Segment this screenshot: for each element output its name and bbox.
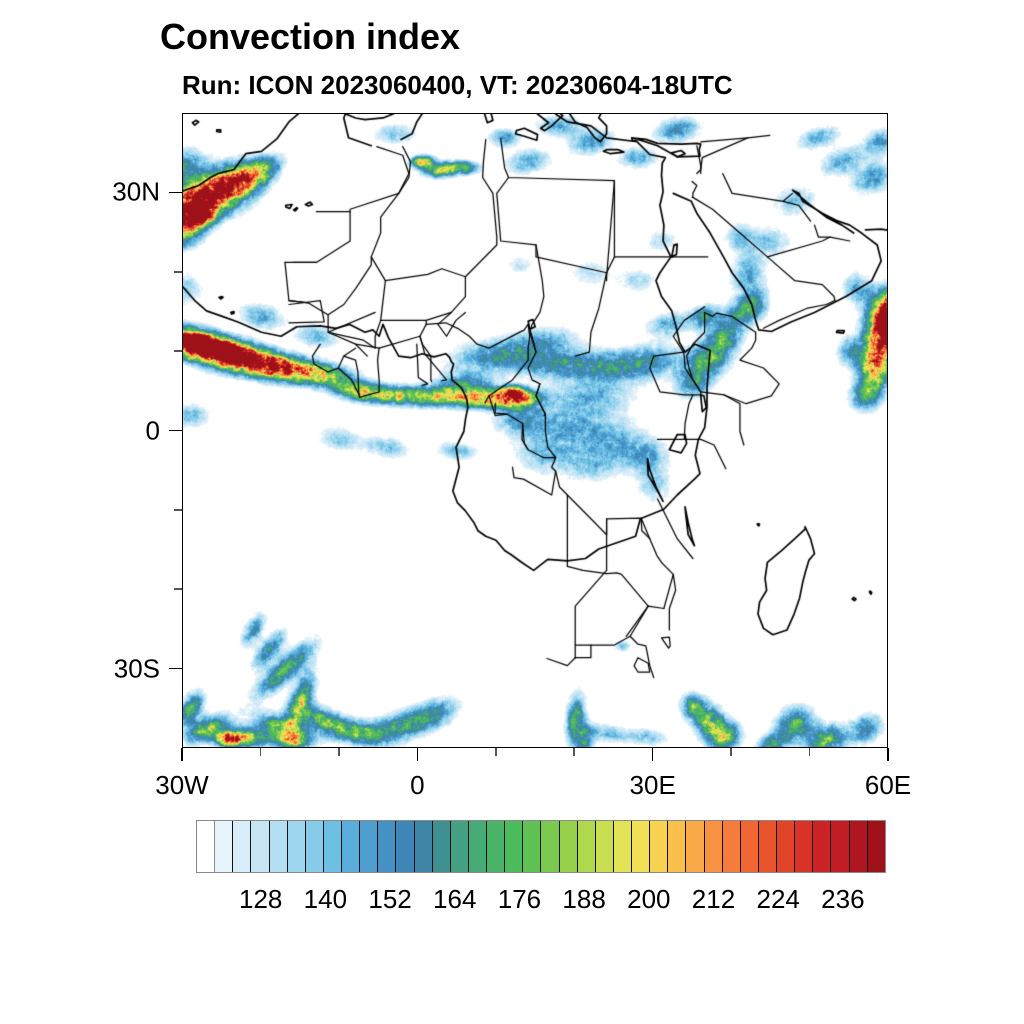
- colorbar-cell: [705, 821, 723, 872]
- colorbar-tick-label: 152: [368, 884, 411, 915]
- colorbar-cell: [360, 821, 378, 872]
- x-tick-minor: [809, 748, 811, 756]
- colorbar-cell: [541, 821, 559, 872]
- y-tick-minor: [174, 271, 182, 273]
- x-tick-major: [417, 748, 419, 761]
- colorbar-tick-label: 236: [821, 884, 864, 915]
- colorbar-cell: [215, 821, 233, 872]
- y-axis-label: 30N: [0, 177, 160, 208]
- colorbar-cell: [614, 821, 632, 872]
- colorbar-cell: [396, 821, 414, 872]
- x-tick-major: [887, 748, 889, 761]
- y-tick-major: [169, 430, 182, 432]
- y-tick-minor: [174, 588, 182, 590]
- colorbar-tick-label: 212: [692, 884, 735, 915]
- colorbar-cell: [233, 821, 251, 872]
- colorbar-cell: [632, 821, 650, 872]
- colorbar: [196, 820, 886, 873]
- colorbar-cell: [197, 821, 215, 872]
- x-tick-minor: [730, 748, 732, 756]
- x-tick-minor: [495, 748, 497, 756]
- colorbar-cell: [433, 821, 451, 872]
- colorbar-cell: [560, 821, 578, 872]
- colorbar-cell: [813, 821, 831, 872]
- coastline-border-overlay: [183, 114, 888, 748]
- colorbar-tick-label: 128: [239, 884, 282, 915]
- colorbar-cell: [650, 821, 668, 872]
- colorbar-cell: [415, 821, 433, 872]
- x-axis-label: 30W: [155, 770, 208, 801]
- colorbar-cell: [578, 821, 596, 872]
- colorbar-cell: [723, 821, 741, 872]
- colorbar-cell: [270, 821, 288, 872]
- x-tick-minor: [338, 748, 340, 756]
- colorbar-cell: [451, 821, 469, 872]
- colorbar-tick-label: 188: [562, 884, 605, 915]
- x-tick-major: [181, 748, 183, 761]
- figure-root: Convection index Run: ICON 2023060400, V…: [0, 0, 1024, 1024]
- y-tick-major: [169, 668, 182, 670]
- x-axis-label: 30E: [630, 770, 676, 801]
- x-tick-major: [652, 748, 654, 761]
- colorbar-cell: [596, 821, 614, 872]
- y-tick-minor: [174, 350, 182, 352]
- map-plot-area: [182, 113, 888, 748]
- x-tick-minor: [573, 748, 575, 756]
- colorbar-cell: [505, 821, 523, 872]
- colorbar-cell: [487, 821, 505, 872]
- colorbar-cell: [686, 821, 704, 872]
- y-axis-label: 30S: [0, 653, 160, 684]
- colorbar-cell: [342, 821, 360, 872]
- colorbar-cell: [741, 821, 759, 872]
- run-valid-time-subtitle: Run: ICON 2023060400, VT: 20230604-18UTC: [182, 70, 733, 101]
- colorbar-cell: [777, 821, 795, 872]
- colorbar-cell: [831, 821, 849, 872]
- y-tick-minor: [174, 509, 182, 511]
- colorbar-tick-label: 200: [627, 884, 670, 915]
- colorbar-cell: [378, 821, 396, 872]
- page-title: Convection index: [160, 16, 460, 58]
- x-tick-minor: [260, 748, 262, 756]
- colorbar-tick-label: 224: [756, 884, 799, 915]
- colorbar-tick-label: 176: [498, 884, 541, 915]
- colorbar-cell: [469, 821, 487, 872]
- colorbar-cell: [523, 821, 541, 872]
- colorbar-tick-label: 140: [304, 884, 347, 915]
- colorbar-tick-label: 164: [433, 884, 476, 915]
- colorbar-cell: [868, 821, 885, 872]
- colorbar-cell: [306, 821, 324, 872]
- x-axis-label: 60E: [865, 770, 911, 801]
- colorbar-cell: [850, 821, 868, 872]
- colorbar-cell: [324, 821, 342, 872]
- colorbar-cell: [668, 821, 686, 872]
- colorbar-cell: [288, 821, 306, 872]
- colorbar-cell: [795, 821, 813, 872]
- y-axis-label: 0: [0, 415, 160, 446]
- colorbar-cell: [251, 821, 269, 872]
- colorbar-cell: [759, 821, 777, 872]
- y-tick-major: [169, 192, 182, 194]
- x-axis-label: 0: [410, 770, 424, 801]
